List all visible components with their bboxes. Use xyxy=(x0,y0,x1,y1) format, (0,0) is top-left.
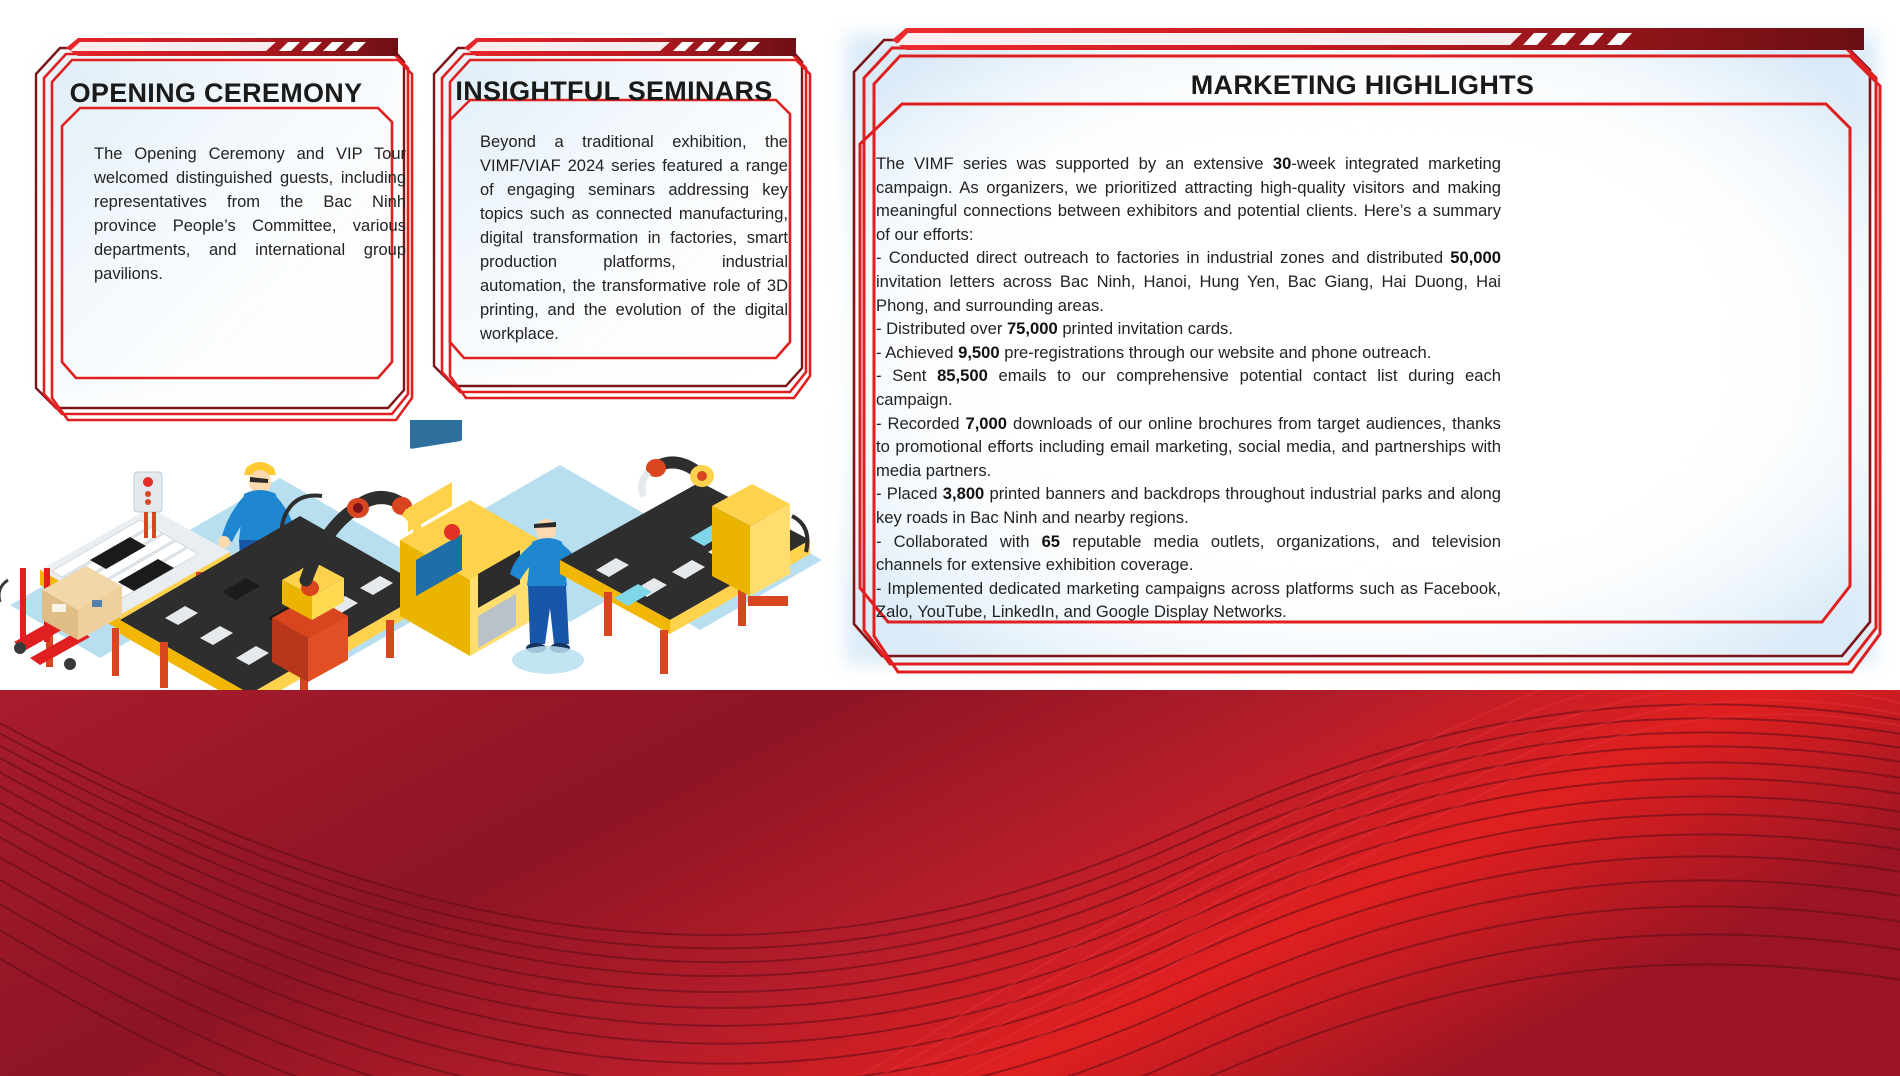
frame-header-bar xyxy=(464,38,796,56)
panel-title: INSIGHTFUL SEMINARS xyxy=(424,76,804,107)
smart-factory-illustration xyxy=(0,420,830,690)
panel-opening-ceremony: OPENING CEREMONY The Opening Ceremony an… xyxy=(26,34,406,424)
marketing-line: - Recorded 7,000 downloads of our online… xyxy=(876,412,1501,483)
factory-illustration-svg xyxy=(0,420,830,690)
red-wave-pattern xyxy=(0,690,1900,1076)
marketing-line: - Distributed over 75,000 printed invita… xyxy=(876,317,1501,341)
marketing-line: - Placed 3,800 printed banners and backd… xyxy=(876,482,1501,529)
panel-body-text: The Opening Ceremony and VIP Tour welcom… xyxy=(94,142,406,286)
marketing-line: - Conducted direct outreach to factories… xyxy=(876,246,1501,317)
frame-header-bar xyxy=(66,38,398,56)
bottom-decorative-band xyxy=(0,690,1900,1076)
marketing-line: - Collaborated with 65 reputable media o… xyxy=(876,530,1501,577)
panel-body-text: The VIMF series was supported by an exte… xyxy=(876,152,1501,624)
marketing-line: - Implemented dedicated marketing campai… xyxy=(876,577,1501,624)
cnc-machine xyxy=(400,420,540,656)
marketing-line: - Sent 85,500 emails to our comprehensiv… xyxy=(876,364,1501,411)
marketing-line: - Achieved 9,500 pre-registrations throu… xyxy=(876,341,1501,365)
panel-title: OPENING CEREMONY xyxy=(26,78,406,109)
panel-marketing-highlights: MARKETING HIGHLIGHTS The VIMF series was… xyxy=(840,26,1885,676)
marketing-line: The VIMF series was supported by an exte… xyxy=(876,152,1501,246)
poster-stage: OPENING CEREMONY The Opening Ceremony an… xyxy=(0,0,1900,1076)
panel-body-text: Beyond a traditional exhibition, the VIM… xyxy=(480,130,788,346)
panel-title: MARKETING HIGHLIGHTS xyxy=(840,70,1885,101)
frame-header-bar xyxy=(892,28,1864,50)
panel-insightful-seminars: INSIGHTFUL SEMINARS Beyond a traditional… xyxy=(424,34,804,402)
